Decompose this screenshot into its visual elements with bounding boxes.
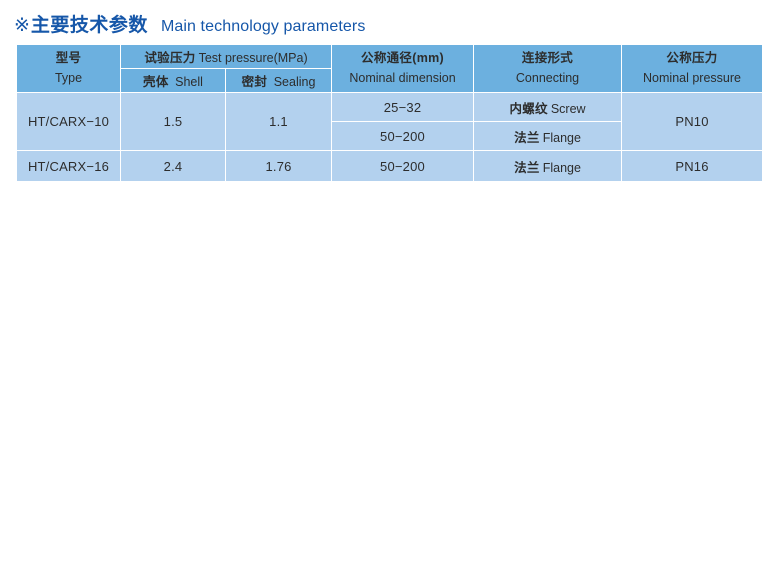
header-nominal-pressure-cn: 公称压力 [622,49,762,68]
page-title: ※ 主要技术参数 Main technology parameters [14,10,365,37]
header-shell-en: Shell [175,75,203,89]
table-header-row-1: 型号 Type 试验压力Test pressure(MPa) 公称通径(mm) … [17,45,763,69]
cell-nominal-dimension-row1b: 50−200 [332,122,474,151]
cell-sealing-row1: 1.1 [226,93,332,151]
cell-connecting-row2-en: Flange [543,161,581,175]
header-test-pressure-cn: 试验压力 [144,51,195,65]
header-nominal-dimension-cn: 公称通径(mm) [332,49,473,68]
header-test-pressure-en: Test pressure(MPa) [199,51,308,65]
cell-nominal-dimension-row2: 50−200 [332,151,474,182]
header-cell-type: 型号 Type [17,45,121,93]
header-connecting-en: Connecting [474,69,621,88]
header-nominal-dimension-en: Nominal dimension [332,69,473,88]
cell-nominal-dimension-row1a: 25−32 [332,93,474,122]
header-cell-nominal-dimension: 公称通径(mm) Nominal dimension [332,45,474,93]
cell-connecting-row1b-en: Flange [543,131,581,145]
header-connecting-cn: 连接形式 [474,49,621,68]
header-shell-cn: 壳体 [143,75,169,89]
cell-nominal-pressure-row2: PN16 [622,151,763,182]
header-cell-shell: 壳体 Shell [121,69,226,93]
cell-connecting-row2: 法兰Flange [474,151,622,182]
cell-connecting-row2-cn: 法兰 [514,161,540,175]
header-cell-test-pressure: 试验压力Test pressure(MPa) [121,45,332,69]
technology-parameters-table: 型号 Type 试验压力Test pressure(MPa) 公称通径(mm) … [16,44,763,182]
page-title-chinese: 主要技术参数 [31,10,148,37]
header-sealing-en: Sealing [274,75,316,89]
header-cell-connecting: 连接形式 Connecting [474,45,622,93]
table-row: HT/CARX−10 1.5 1.1 25−32 内螺纹Screw PN10 [17,93,763,122]
cell-connecting-row1b-cn: 法兰 [514,131,540,145]
header-type-cn: 型号 [17,49,120,68]
cell-connecting-row1a-cn: 内螺纹 [509,102,547,116]
header-cell-nominal-pressure: 公称压力 Nominal pressure [622,45,763,93]
cell-connecting-row1a: 内螺纹Screw [474,93,622,122]
header-type-en: Type [17,69,120,88]
title-marker-icon: ※ [14,16,30,35]
page-title-english: Main technology parameters [161,18,365,36]
cell-sealing-row2: 1.76 [226,151,332,182]
table-row: HT/CARX−16 2.4 1.76 50−200 法兰Flange PN16 [17,151,763,182]
cell-type-row1: HT/CARX−10 [17,93,121,151]
cell-shell-row1: 1.5 [121,93,226,151]
header-cell-sealing: 密封 Sealing [226,69,332,93]
cell-type-row2: HT/CARX−16 [17,151,121,182]
cell-connecting-row1b: 法兰Flange [474,122,622,151]
cell-connecting-row1a-en: Screw [551,102,586,116]
cell-shell-row2: 2.4 [121,151,226,182]
header-nominal-pressure-en: Nominal pressure [622,69,762,88]
cell-nominal-pressure-row1: PN10 [622,93,763,151]
header-sealing-cn: 密封 [242,75,268,89]
